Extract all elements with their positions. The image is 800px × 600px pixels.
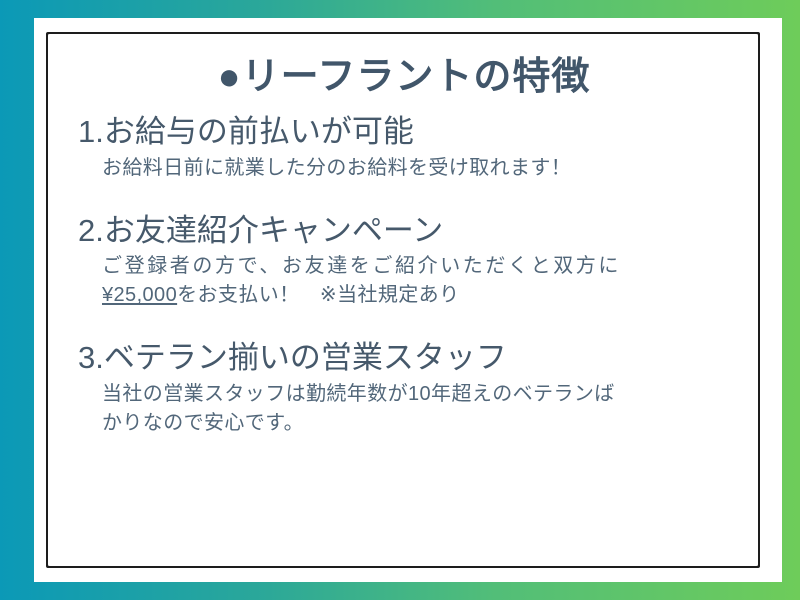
feature-item-2-body: ご登録者の方で、お友達をご紹介いただくと双方に ¥25,000をお支払い！ ※当…	[102, 252, 732, 310]
feature-item-2-body-line-1: ご登録者の方で、お友達をご紹介いただくと双方に	[102, 252, 732, 281]
feature-item-2: 2.お友達紹介キャンペーン ご登録者の方で、お友達をご紹介いただくと双方に ¥2…	[76, 211, 732, 311]
spacer	[76, 316, 732, 338]
feature-item-3-body: 当社の営業スタッフは勤続年数が10年超えのベテランば かりなので安心です。	[102, 380, 732, 438]
feature-item-3-body-line-1: 当社の営業スタッフは勤続年数が10年超えのベテランば	[102, 380, 732, 409]
referral-amount-suffix: をお支払い！ ※当社規定あり	[177, 284, 459, 306]
referral-amount: ¥25,000	[102, 284, 177, 306]
white-card: ●リーフラントの特徴 1.お給与の前払いが可能 お給料日前に就業した分のお給料を…	[34, 18, 782, 582]
feature-item-3: 3.ベテラン揃いの営業スタッフ 当社の営業スタッフは勤続年数が10年超えのベテラ…	[76, 338, 732, 438]
feature-item-1-body: お給料日前に就業した分のお給料を受け取れます！	[102, 154, 732, 183]
feature-item-1-body-line-1: お給料日前に就業した分のお給料を受け取れます！	[102, 154, 732, 183]
slide-gradient-frame: ●リーフラントの特徴 1.お給与の前払いが可能 お給料日前に就業した分のお給料を…	[0, 0, 800, 600]
spacer	[76, 189, 732, 211]
feature-item-2-body-line-2: ¥25,000をお支払い！ ※当社規定あり	[102, 281, 732, 310]
hand-drawn-frame: ●リーフラントの特徴 1.お給与の前払いが可能 お給料日前に就業した分のお給料を…	[46, 32, 760, 568]
page-title: ●リーフラントの特徴	[76, 58, 732, 98]
feature-item-2-heading: 2.お友達紹介キャンペーン	[78, 211, 732, 251]
feature-item-3-heading: 3.ベテラン揃いの営業スタッフ	[78, 338, 732, 378]
feature-item-3-body-line-2: かりなので安心です。	[102, 409, 732, 438]
feature-item-1-heading: 1.お給与の前払いが可能	[78, 112, 732, 152]
feature-item-1: 1.お給与の前払いが可能 お給料日前に就業した分のお給料を受け取れます！	[76, 112, 732, 183]
